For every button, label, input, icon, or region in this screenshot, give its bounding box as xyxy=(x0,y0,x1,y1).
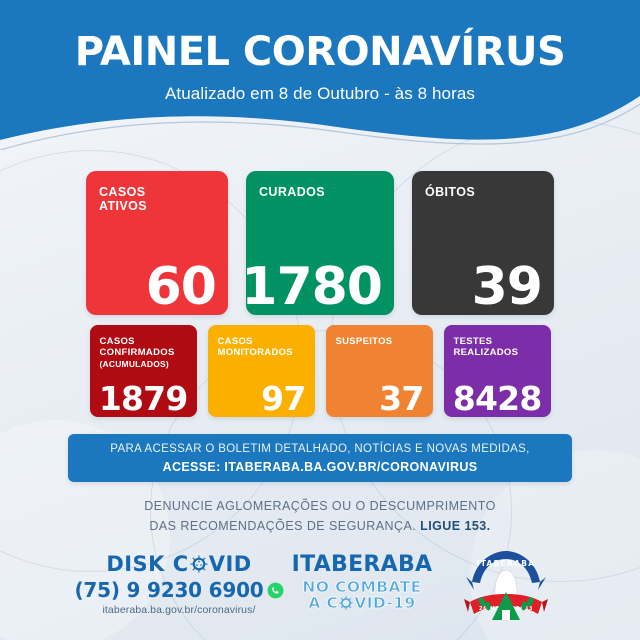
campaign-slogan-part1: À C xyxy=(308,595,338,611)
update-timestamp: Atualizado em 8 de Outubro - às 8 horas xyxy=(0,72,640,104)
virus-icon xyxy=(339,596,353,610)
stat-card-casos-confirmados: CASOS CONFIRMADOS (ACUMULADOS) 1879 xyxy=(90,325,197,417)
stat-card-label: CURADOS xyxy=(259,185,381,199)
coronavirus-dashboard-poster: PAINEL CORONAVÍRUS Atualizado em 8 de Ou… xyxy=(0,0,640,640)
stat-card-value: 37 xyxy=(379,382,423,415)
notice-line-2: DAS RECOMENDAÇÕES DE SEGURANÇA. LIGUE 15… xyxy=(0,516,640,536)
campaign-slogan-part2: VID-19 xyxy=(354,595,415,611)
banner-website-url[interactable]: ACESSE: ITABERABA.BA.GOV.BR/CORONAVIRUS xyxy=(68,458,572,476)
svg-text:ITABERABA: ITABERABA xyxy=(477,559,536,568)
stat-card-testes-realizados: TESTES REALIZADOS 8428 xyxy=(444,325,551,417)
crest-icon: ITABERABA 26 MARÇO 1833 xyxy=(462,548,550,632)
denunciation-notice: DENUNCIE AGLOMERAÇÕES OU O DESCUMPRIMENT… xyxy=(0,496,640,536)
campaign-slogan-line-1: NO COMBATE xyxy=(282,579,442,595)
stat-card-obitos: ÓBITOS 39 xyxy=(412,171,554,315)
stat-card-value: 60 xyxy=(146,261,216,313)
stat-card-label: ÓBITOS xyxy=(425,185,541,199)
stat-card-label: CASOS ATIVOS xyxy=(99,185,215,214)
disk-covid-phone[interactable]: (75) 9 9230 6900 xyxy=(64,578,294,602)
secondary-stats-row: CASOS CONFIRMADOS (ACUMULADOS) 1879 CASO… xyxy=(0,325,640,417)
stat-card-label: CASOS CONFIRMADOS (ACUMULADOS) xyxy=(100,336,187,369)
page-title: PAINEL CORONAVÍRUS xyxy=(0,0,640,72)
campaign-city-name: ITABERABA xyxy=(282,554,442,576)
disk-covid-title-part1: DISK C xyxy=(106,552,188,576)
stat-card-label: SUSPEITOS xyxy=(336,336,423,347)
campaign-logo-block: ITABERABA NO COMBATE À C VID-19 xyxy=(282,554,442,612)
stat-card-label: TESTES REALIZADOS xyxy=(454,336,541,359)
whatsapp-icon[interactable] xyxy=(267,582,284,599)
poster-footer: DISK C VID (75) 9 923 xyxy=(0,548,640,640)
stat-card-value: 39 xyxy=(472,261,542,313)
itaberaba-city-crest: ITABERABA 26 MARÇO 1833 xyxy=(462,548,550,632)
stat-card-casos-monitorados: CASOS MONITORADOS 97 xyxy=(208,325,315,417)
campaign-slogan-line-2: À C VID-19 xyxy=(282,595,442,611)
notice-line-1: DENUNCIE AGLOMERAÇÕES OU O DESCUMPRIMENT… xyxy=(0,496,640,516)
stat-card-curados: CURADOS 1780 xyxy=(246,171,394,315)
stat-card-value: 97 xyxy=(261,382,305,415)
bulletin-link-banner[interactable]: PARA ACESSAR O BOLETIM DETALHADO, NOTÍCI… xyxy=(68,434,572,482)
stat-card-casos-ativos: CASOS ATIVOS 60 xyxy=(86,171,228,315)
notice-line-2-prefix: DAS RECOMENDAÇÕES DE SEGURANÇA. xyxy=(149,519,416,533)
stat-card-value: 1879 xyxy=(99,382,188,415)
disk-covid-url[interactable]: itaberaba.ba.gov.br/coronavirus/ xyxy=(64,604,294,616)
primary-stats-row: CASOS ATIVOS 60 CURADOS 1780 ÓBITOS 39 xyxy=(0,171,640,315)
poster-header: PAINEL CORONAVÍRUS Atualizado em 8 de Ou… xyxy=(0,0,640,150)
disk-covid-block: DISK C VID (75) 9 923 xyxy=(64,552,294,616)
stat-card-suspeitos: SUSPEITOS 37 xyxy=(326,325,433,417)
stat-card-label: CASOS MONITORADOS xyxy=(218,336,305,359)
disk-covid-phone-number: (75) 9 9230 6900 xyxy=(74,578,263,602)
virus-icon xyxy=(190,555,208,573)
stat-card-value: 1780 xyxy=(241,261,382,313)
banner-line-1: PARA ACESSAR O BOLETIM DETALHADO, NOTÍCI… xyxy=(68,442,572,458)
disk-covid-title: DISK C VID xyxy=(64,552,294,576)
disk-covid-title-part2: VID xyxy=(209,552,252,576)
emergency-phone-label: LIGUE 153. xyxy=(420,519,491,533)
stat-card-value: 8428 xyxy=(453,382,542,415)
